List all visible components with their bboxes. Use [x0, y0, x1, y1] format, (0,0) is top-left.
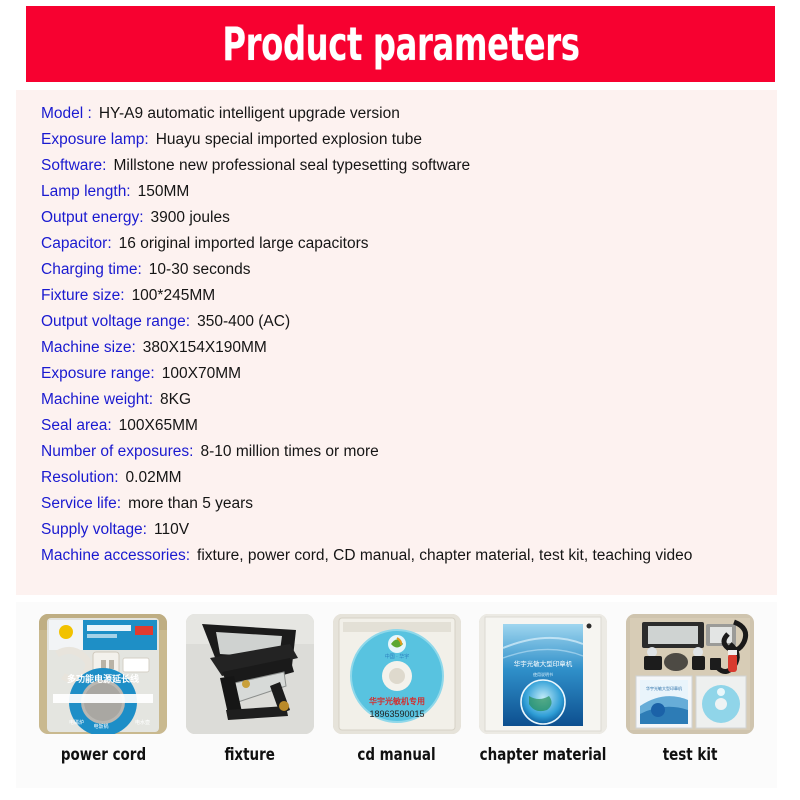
gallery-caption: test kit	[663, 747, 718, 764]
gallery-item-fixture: fixture	[185, 614, 315, 788]
cd-manual-photo: 中国 · 华宇 华宇光敏机专用 18963590015	[333, 614, 461, 734]
spec-value: HY-A9 automatic intelligent upgrade vers…	[99, 105, 400, 122]
chapter-material-photo: 华宇光敏大型印章机 使用说明书	[479, 614, 607, 734]
cd-disc-number: 18963590015	[369, 709, 424, 719]
spec-value: 350-400 (AC)	[197, 313, 290, 330]
spec-row: Output energy:3900 joules	[41, 205, 773, 231]
svg-text:多功能电源延长线: 多功能电源延长线	[67, 673, 139, 684]
svg-text:华宇光敏大型印章机: 华宇光敏大型印章机	[646, 685, 682, 691]
spec-row: Number of exposures:8-10 million times o…	[41, 439, 773, 465]
spec-value: 10-30 seconds	[149, 261, 251, 278]
spec-label: Charging time:	[41, 261, 142, 278]
test-kit-photo: 华宇光敏大型印章机	[626, 614, 754, 734]
spec-label: Output voltage range:	[41, 313, 190, 330]
spec-value: more than 5 years	[128, 495, 253, 512]
spec-row: Machine weight:8KG	[41, 387, 773, 413]
product-parameters-page: Product parameters Model :HY-A9 automati…	[0, 0, 800, 800]
spec-value: 100X70MM	[162, 365, 241, 382]
spec-value: Huayu special imported explosion tube	[156, 131, 422, 148]
svg-text:电饭锅: 电饭锅	[93, 723, 108, 730]
spec-value: 16 original imported large capacitors	[119, 235, 369, 252]
spec-row: Capacitor:16 original imported large cap…	[41, 231, 773, 257]
spec-row: Exposure range:100X70MM	[41, 361, 773, 387]
gallery-caption: cd manual	[357, 747, 435, 764]
spec-label: Seal area:	[41, 417, 112, 434]
spec-value: 380X154X190MM	[143, 339, 267, 356]
spec-value: fixture, power cord, CD manual, chapter …	[197, 547, 692, 564]
spec-value: 3900 joules	[151, 209, 230, 226]
spec-row: Machine size:380X154X190MM	[41, 335, 773, 361]
spec-label: Lamp length:	[41, 183, 131, 200]
gallery-caption: fixture	[225, 747, 275, 764]
power-cord-photo: 多功能电源延长线 电磁炉 电饭锅 电水壶	[39, 614, 167, 734]
spec-row: Output voltage range:350-400 (AC)	[41, 309, 773, 335]
spec-row: Software:Millstone new professional seal…	[41, 153, 773, 179]
spec-label: Output energy:	[41, 209, 144, 226]
gallery-item-power-cord: 多功能电源延长线 电磁炉 电饭锅 电水壶 power cord	[38, 614, 168, 788]
spec-value: 150MM	[138, 183, 190, 200]
accessories-strip: 多功能电源延长线 电磁炉 电饭锅 电水壶 power cord	[16, 602, 777, 788]
gallery-item-chapter-material: 华宇光敏大型印章机 使用说明书 chapter material	[478, 614, 608, 788]
svg-text:电水壶: 电水壶	[135, 719, 150, 726]
svg-text:电磁炉: 电磁炉	[69, 719, 84, 726]
spec-label: Software:	[41, 157, 106, 174]
spec-label: Machine size:	[41, 339, 136, 356]
spec-label: Supply voltage:	[41, 521, 147, 538]
spec-row: Machine accessories:fixture, power cord,…	[41, 543, 773, 569]
fixture-photo	[186, 614, 314, 734]
spec-value: 0.02MM	[126, 469, 182, 486]
page-header-banner: Product parameters	[26, 6, 775, 82]
svg-text:使用说明书: 使用说明书	[533, 671, 553, 677]
spec-value: 8-10 million times or more	[201, 443, 379, 460]
accessories-gallery: 多功能电源延长线 电磁炉 电饭锅 电水壶 power cord	[16, 602, 777, 788]
spec-label: Resolution:	[41, 469, 119, 486]
svg-text:华宇光敏机专用: 华宇光敏机专用	[369, 696, 425, 706]
gallery-item-cd-manual: 中国 · 华宇 华宇光敏机专用 18963590015 cd manual	[332, 614, 462, 788]
specifications-list: Model :HY-A9 automatic intelligent upgra…	[41, 101, 773, 569]
spec-row: Seal area:100X65MM	[41, 413, 773, 439]
gallery-caption: chapter material	[480, 747, 607, 764]
spec-value: Millstone new professional seal typesett…	[113, 157, 470, 174]
spec-row: Charging time:10-30 seconds	[41, 257, 773, 283]
gallery-caption: power cord	[60, 747, 145, 764]
spec-value: 8KG	[160, 391, 191, 408]
spec-label: Exposure range:	[41, 365, 155, 382]
svg-text:中国 · 华宇: 中国 · 华宇	[384, 653, 408, 660]
gallery-item-test-kit: 华宇光敏大型印章机 test kit	[625, 614, 755, 788]
spec-label: Fixture size:	[41, 287, 125, 304]
spec-value: 110V	[154, 521, 189, 538]
page-title: Product parameters	[222, 21, 579, 67]
spec-row: Supply voltage:110V	[41, 517, 773, 543]
spec-row: Fixture size:100*245MM	[41, 283, 773, 309]
specifications-panel: Model :HY-A9 automatic intelligent upgra…	[16, 90, 777, 595]
spec-label: Service life:	[41, 495, 121, 512]
svg-text:华宇光敏大型印章机: 华宇光敏大型印章机	[514, 659, 573, 668]
spec-label: Machine accessories:	[41, 547, 190, 564]
spec-label: Capacitor:	[41, 235, 112, 252]
spec-value: 100X65MM	[119, 417, 198, 434]
spec-label: Number of exposures:	[41, 443, 194, 460]
spec-row: Lamp length:150MM	[41, 179, 773, 205]
spec-label: Machine weight:	[41, 391, 153, 408]
spec-row: Model :HY-A9 automatic intelligent upgra…	[41, 101, 773, 127]
spec-label: Model :	[41, 105, 92, 122]
spec-label: Exposure lamp:	[41, 131, 149, 148]
spec-row: Exposure lamp:Huayu special imported exp…	[41, 127, 773, 153]
spec-row: Resolution:0.02MM	[41, 465, 773, 491]
spec-row: Service life:more than 5 years	[41, 491, 773, 517]
spec-value: 100*245MM	[132, 287, 216, 304]
